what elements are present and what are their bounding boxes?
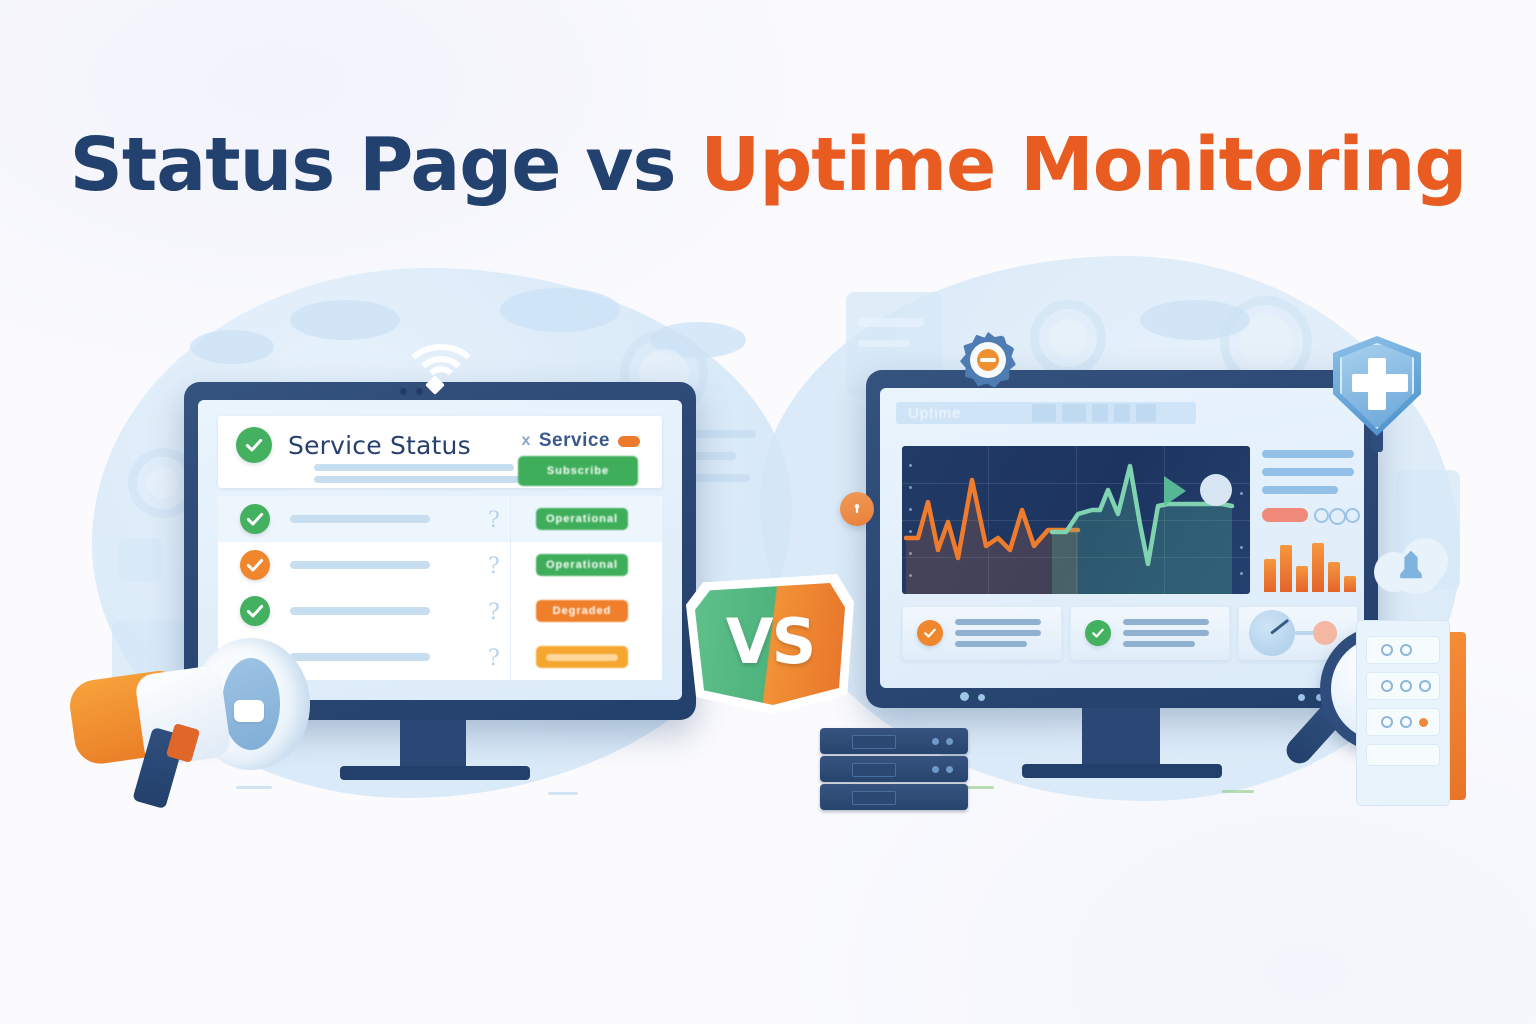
row-label-skeleton xyxy=(290,607,430,615)
status-ring-icon xyxy=(1381,716,1393,728)
cloud-shape xyxy=(500,288,620,332)
grass-decor xyxy=(548,792,578,795)
bar-chart-bar xyxy=(1264,559,1276,592)
row-divider xyxy=(510,634,511,680)
status-ring-icon xyxy=(1345,508,1360,523)
dashboard-side-panel xyxy=(1262,446,1354,596)
brand-mark: x Service xyxy=(521,430,640,452)
row-metric: ? xyxy=(488,554,500,579)
bar-chart-bar xyxy=(1328,562,1340,592)
monitor-led xyxy=(978,694,985,701)
lock-badge-icon xyxy=(840,492,874,526)
title-dark-part: Status Page vs xyxy=(70,122,701,208)
bar-chart-bar xyxy=(1344,576,1356,592)
brand-dot-icon xyxy=(618,436,640,447)
cabinet-row xyxy=(1366,672,1440,700)
row-label-skeleton xyxy=(290,561,430,569)
uptime-chart-panel xyxy=(902,446,1250,594)
vs-badge-label: VS xyxy=(686,574,854,714)
cloud-shape xyxy=(190,330,274,364)
topbar-block xyxy=(1114,404,1130,422)
cloud-shape xyxy=(1140,300,1250,340)
brand-prefix: x xyxy=(521,432,530,450)
gear-shape xyxy=(1030,300,1106,376)
status-ring-icon xyxy=(1381,680,1393,692)
status-ring-icon xyxy=(1314,508,1329,523)
server-rack-illustration xyxy=(820,728,970,808)
server-led xyxy=(946,738,953,745)
topbar-block xyxy=(1092,404,1108,422)
shield-cross-icon xyxy=(1333,336,1421,436)
status-ring-icon xyxy=(1400,644,1412,656)
monitor-neck xyxy=(400,720,466,770)
check-circle-orange-icon xyxy=(240,550,270,580)
shield-cross-horizontal xyxy=(1352,374,1408,392)
topbar-block xyxy=(1062,404,1086,422)
status-dot-icon xyxy=(1419,718,1428,727)
header-skeleton-line xyxy=(314,464,514,471)
play-triangle-icon xyxy=(1164,476,1186,506)
gear-slot xyxy=(980,358,996,362)
cabinet-row xyxy=(1366,636,1440,664)
gear-badge-icon xyxy=(960,332,1016,388)
check-circle-green-icon xyxy=(236,427,272,463)
page-title: Status Page vs Uptime Monitoring xyxy=(0,122,1536,208)
status-card-lines xyxy=(1123,619,1209,647)
cabinet-row xyxy=(1366,708,1440,736)
row-divider xyxy=(510,542,511,588)
row-label-skeleton xyxy=(290,515,430,523)
topbar-block xyxy=(1032,404,1056,422)
status-ring-icon xyxy=(1400,716,1412,728)
side-text-line xyxy=(1262,450,1354,458)
monitor-led xyxy=(960,692,969,701)
status-ring-icon xyxy=(1381,644,1393,656)
play-dot-icon xyxy=(1200,474,1232,506)
status-header-card: Service Status x Service Subscribe xyxy=(218,416,662,488)
status-ring-icon xyxy=(1400,680,1412,692)
megaphone-illustration xyxy=(66,630,326,810)
row-metric: ? xyxy=(488,600,500,625)
status-card[interactable] xyxy=(1070,606,1230,660)
status-ring-icon xyxy=(1419,680,1431,692)
illustration-canvas: Status Page vs Uptime Monitoring xyxy=(0,0,1536,1024)
decor-line xyxy=(858,340,910,347)
status-card-lines xyxy=(955,619,1041,647)
row-divider xyxy=(510,588,511,634)
status-page-title: Service Status xyxy=(288,431,471,460)
status-ring-icon xyxy=(1329,508,1346,525)
server-led xyxy=(932,766,939,773)
megaphone-knob xyxy=(234,700,264,722)
row-status-badge[interactable] xyxy=(536,646,628,668)
bar-chart-bar xyxy=(1296,566,1308,592)
grass-decor xyxy=(1222,790,1254,793)
cloud-shape xyxy=(290,300,400,340)
check-circle-orange-icon xyxy=(917,620,943,646)
monitor-base xyxy=(1022,764,1222,778)
monitor-neck xyxy=(1082,708,1160,768)
server-slot xyxy=(852,735,896,749)
row-metric: ? xyxy=(488,646,500,671)
server-slot xyxy=(852,791,896,805)
cabinet-row xyxy=(1366,744,1440,766)
uptime-waveform-chart xyxy=(902,446,1250,594)
check-circle-green-icon xyxy=(240,596,270,626)
cloud-rocket-badge-icon xyxy=(1374,538,1448,598)
server-led xyxy=(932,738,939,745)
side-text-line xyxy=(1262,468,1354,476)
vs-badge: VS xyxy=(686,574,854,714)
badge-inner-bar xyxy=(546,654,618,661)
row-status-badge[interactable]: Degraded xyxy=(536,600,628,622)
server-slot xyxy=(852,763,896,777)
topbar-block xyxy=(1136,404,1156,422)
topbar-label: Uptime xyxy=(908,405,962,422)
header-skeleton-line xyxy=(314,476,538,483)
bar-chart-bar xyxy=(1312,543,1324,592)
row-divider xyxy=(510,496,511,542)
check-circle-green-icon xyxy=(240,504,270,534)
title-orange-part: Uptime Monitoring xyxy=(700,122,1466,208)
row-metric: ? xyxy=(488,508,500,533)
subscribe-badge[interactable]: Subscribe xyxy=(518,456,638,486)
decor-box xyxy=(118,538,162,582)
lock-icon xyxy=(849,501,865,517)
brand-name: Service xyxy=(539,430,610,452)
decor-line xyxy=(858,318,924,327)
server-led xyxy=(946,766,953,773)
monitor-base xyxy=(340,766,530,780)
row-status-badge[interactable]: Operational xyxy=(536,508,628,530)
side-highlight-bar xyxy=(1262,508,1308,522)
status-card[interactable] xyxy=(902,606,1062,660)
side-text-line xyxy=(1262,486,1338,494)
row-status-badge[interactable]: Operational xyxy=(536,554,628,576)
bar-chart-bar xyxy=(1280,545,1292,592)
wifi-icon xyxy=(400,340,470,386)
check-circle-green-icon xyxy=(1085,620,1111,646)
